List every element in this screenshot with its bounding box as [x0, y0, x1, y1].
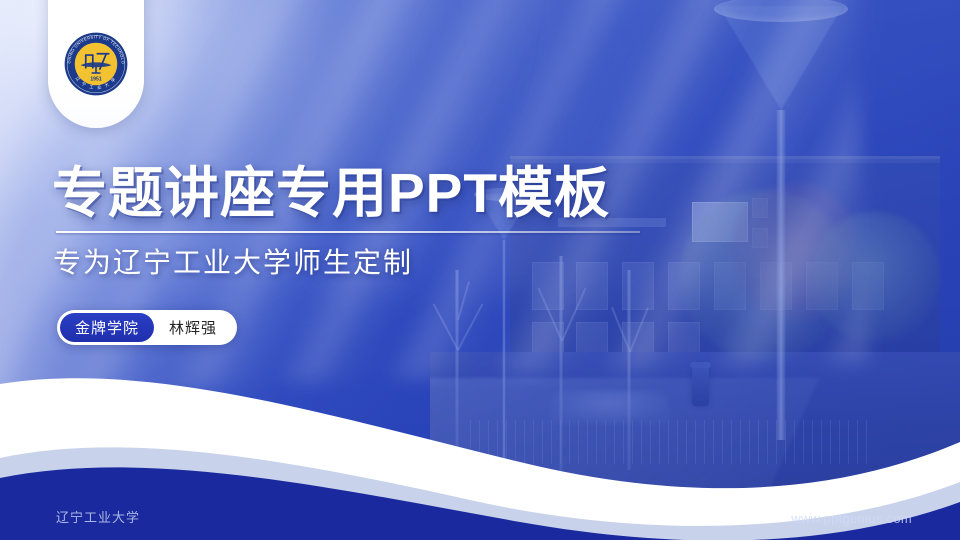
badge-presenter-name: 林辉强 [157, 317, 237, 338]
presentation-title-slide: LIAONING UNIVERSITY OF TECHNOLOGY 辽 宁 工 … [0, 0, 960, 540]
logo-plate: LIAONING UNIVERSITY OF TECHNOLOGY 辽 宁 工 … [48, 0, 144, 128]
page-title: 专题讲座专用PPT模板 [52, 162, 610, 224]
footer-website-url[interactable]: www.pptgenius.com [791, 511, 912, 526]
svg-text:1951: 1951 [90, 77, 102, 83]
footer-university-name: 辽宁工业大学 [56, 507, 140, 526]
credential-badge: 金牌学院 林辉强 [57, 310, 237, 345]
title-divider [56, 231, 640, 233]
badge-primary-label: 金牌学院 [60, 313, 154, 342]
university-logo: LIAONING UNIVERSITY OF TECHNOLOGY 辽 宁 工 … [64, 32, 128, 96]
page-subtitle: 专为辽宁工业大学师生定制 [53, 244, 413, 282]
